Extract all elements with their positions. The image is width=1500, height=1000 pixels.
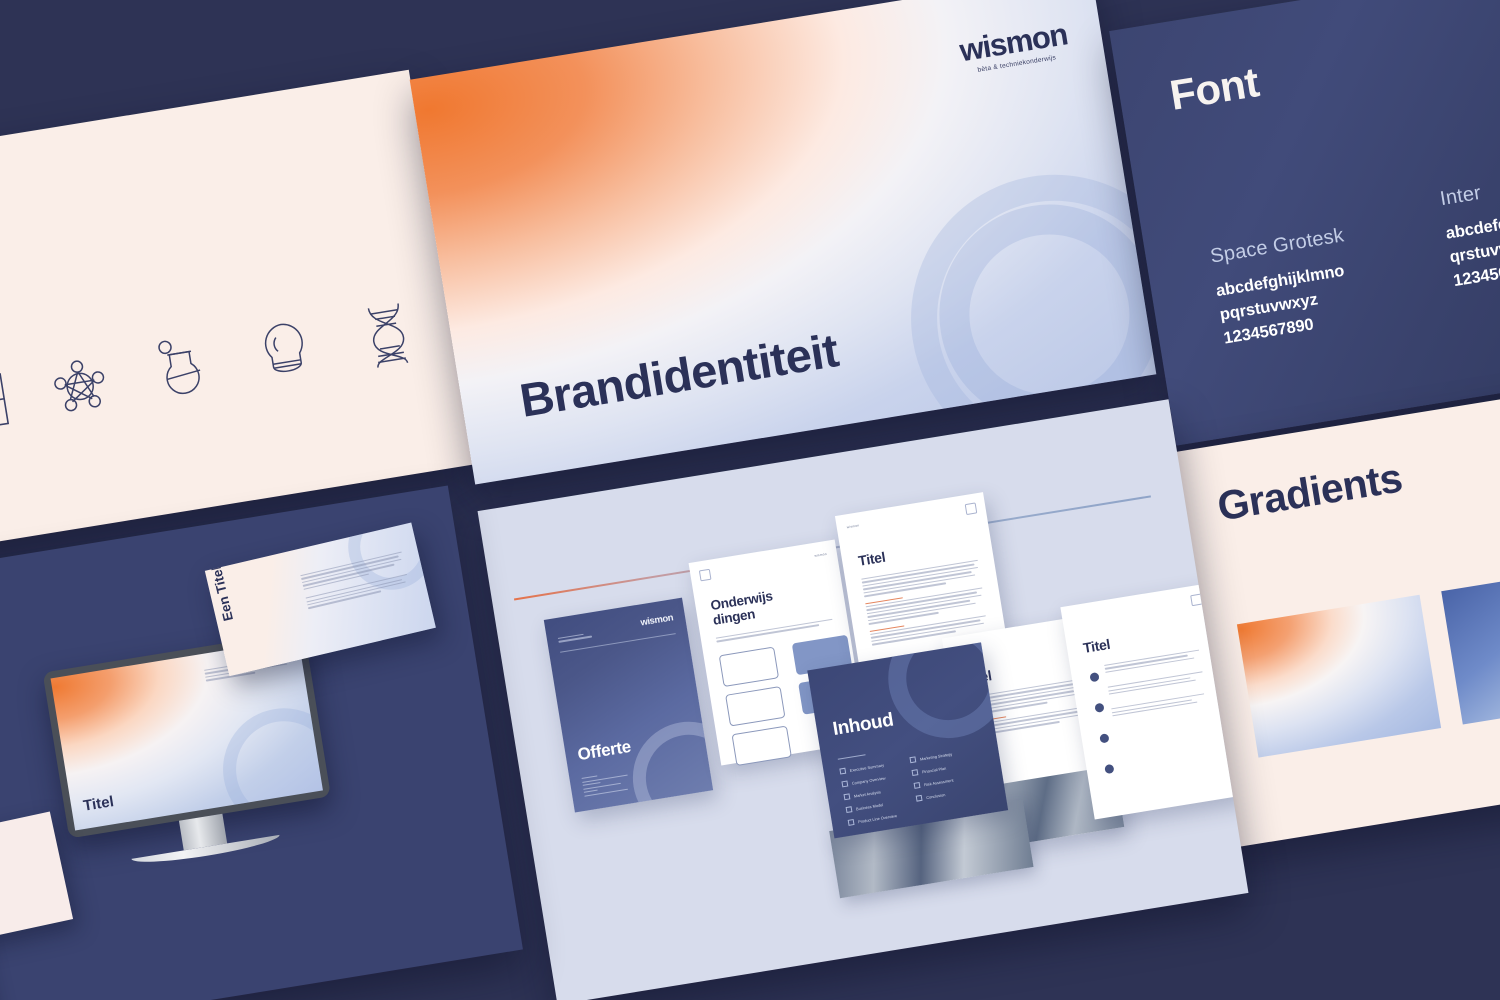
font-spec-space-grotesk: Space Grotesk abcdefghijklmno pqrstuvwxy…	[1209, 224, 1359, 351]
gradients-panel-heading: Gradients	[1214, 454, 1405, 530]
card-titel: Titel	[0, 811, 73, 950]
monitor-mockup: Titel	[43, 630, 338, 877]
corner-mark-icon	[699, 569, 712, 582]
document-inhoud-toc: Inhoud Executive Summary Company Overvie…	[807, 642, 1008, 838]
document-offerte-cover: wismon Offerte	[544, 598, 713, 813]
toc-columns: Executive Summary Company Overview Marke…	[839, 750, 962, 832]
toc-item: Company Overview	[841, 774, 890, 788]
decorative-ring	[214, 699, 323, 830]
checkbox-icon	[841, 781, 848, 788]
font-spec-inter: Inter abcdefghijklmno qrstuvwxyz 1234567…	[1439, 168, 1500, 294]
timeline-dot	[1104, 764, 1114, 774]
toc-item-label: Financial Plan	[922, 765, 947, 774]
mockup-panel: Titel Een Titel over iets Titel	[0, 485, 523, 1000]
icon-sheet-body-copy: de, luchtige hanger voor ts.	[0, 189, 227, 279]
font-panel-heading: Font	[1167, 58, 1262, 120]
dna-icon	[352, 297, 424, 372]
brand-identity-showcase: de, luchtige hanger voor ts.	[0, 0, 1500, 1000]
toc-item: Financial Plan	[912, 763, 955, 776]
flow-step-box	[719, 647, 779, 688]
toc-item-label: Executive Summary	[849, 762, 884, 772]
checkbox-icon	[848, 819, 855, 826]
timeline-dot	[1089, 672, 1099, 682]
flow-column-steps	[719, 647, 793, 774]
card-een-titel-over-iets: Een Titel over iets	[205, 523, 436, 677]
checkbox-icon	[839, 768, 846, 775]
slide-title: Brandidentiteit	[516, 322, 842, 428]
toc-rule	[838, 754, 866, 759]
logo-wordmark: wismon	[640, 612, 674, 628]
lightbulb-icon	[249, 314, 321, 389]
toc-item-label: Marketing Strategy	[920, 751, 953, 761]
toc-list-right: Marketing Strategy Financial Plan Risk A…	[910, 750, 962, 821]
document-title: Onderwijs dingen	[709, 588, 776, 628]
checkbox-icon	[844, 793, 851, 800]
toc-item: Marketing Strategy	[910, 750, 953, 763]
toc-list-left: Executive Summary Company Overview Marke…	[839, 761, 898, 833]
document-title: Titel	[857, 549, 886, 569]
toc-item-label: Conclusion	[926, 792, 946, 800]
document-meta-list	[582, 771, 631, 799]
font-name: Inter	[1439, 168, 1500, 211]
document-top-label: wismon	[847, 523, 860, 529]
gradient-swatch-orange-blue	[1237, 595, 1441, 758]
corner-mark-icon	[965, 502, 978, 515]
document-title: Titel	[1082, 636, 1111, 656]
atom-icon	[44, 347, 116, 422]
timeline-dot	[1094, 703, 1104, 713]
document-top-label: wismon	[814, 552, 827, 558]
toc-item-label: Product Line Overview	[858, 813, 897, 824]
gradient-swatch-row	[1237, 562, 1500, 758]
toc-item: Conclusion	[916, 789, 959, 802]
checkbox-icon	[910, 756, 917, 763]
flow-step-box	[731, 725, 791, 766]
flask-icon	[147, 330, 219, 405]
checkbox-icon	[916, 795, 923, 802]
toc-item-label: Market Analysis	[853, 789, 881, 798]
checkbox-icon	[846, 806, 853, 813]
document-showcase-panel: wismon Offerte wismon Onderwijs dingen	[478, 399, 1249, 1000]
toc-item: Product Line Overview	[848, 812, 897, 826]
document-meta-top	[558, 633, 593, 645]
calculator-icon	[0, 364, 13, 439]
monitor-screen: Titel	[51, 638, 323, 830]
screen-slide-title: Titel	[82, 793, 115, 815]
checkbox-icon	[914, 782, 921, 789]
document-title: Offerte	[576, 737, 632, 765]
icon-row	[0, 297, 424, 439]
flow-step-box	[725, 686, 785, 727]
timeline-dot	[1099, 733, 1109, 743]
decorative-arc	[625, 714, 714, 813]
font-panel: Font Space Grotesk abcdefghijklmno pqrst…	[1109, 0, 1500, 446]
toc-item: Business Model	[846, 799, 895, 813]
document-body-text	[1104, 650, 1207, 719]
toc-item: Market Analysis	[844, 786, 893, 800]
card-title: Een Titel over iets	[205, 523, 236, 623]
toc-item-label: Company Overview	[851, 775, 885, 785]
gradient-swatch-blue	[1441, 562, 1500, 725]
brand-logo: wismon bèta & techniekonderwijs	[957, 18, 1070, 76]
toc-item: Executive Summary	[839, 761, 888, 775]
checkbox-icon	[912, 769, 919, 776]
document-title: Inhoud	[831, 710, 895, 741]
toc-item: Risk Assessment	[914, 776, 957, 789]
toc-item-label: Risk Assessment	[924, 777, 954, 787]
toc-item-label: Business Model	[856, 802, 884, 811]
title-slide-panel: wismon bèta & techniekonderwijs Brandide…	[410, 0, 1157, 485]
